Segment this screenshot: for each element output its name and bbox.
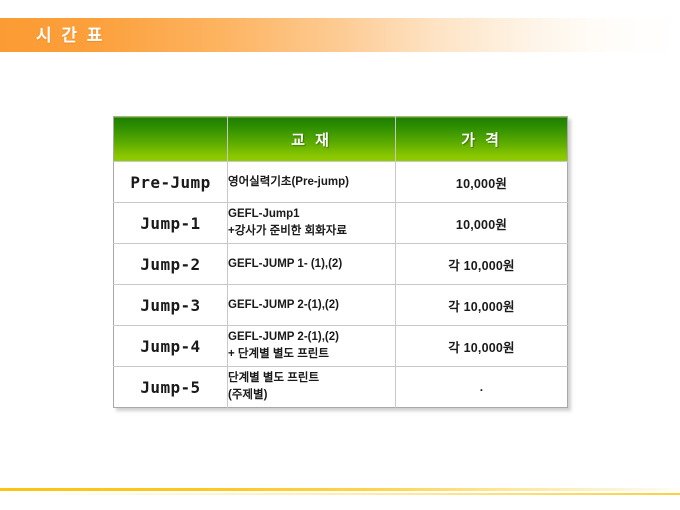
cell-level: Jump-5 [114, 367, 228, 408]
cell-book: 단계별 별도 프린트 (주제별) [228, 367, 396, 408]
schedule-table: 교 재 가 격 Pre-Jump 영어실력기초(Pre-jump) 10,000… [113, 116, 568, 408]
cell-book: GEFL-JUMP 1- (1),(2) [228, 244, 396, 285]
page-title: 시 간 표 [36, 27, 105, 44]
table-row: Jump-2 GEFL-JUMP 1- (1),(2) 각 10,000원 [114, 244, 568, 285]
book-line-1: GEFL-Jump1 [228, 206, 395, 223]
table-row: Pre-Jump 영어실력기초(Pre-jump) 10,000원 [114, 162, 568, 203]
cell-price: 각 10,000원 [396, 326, 568, 367]
cell-level: Jump-2 [114, 244, 228, 285]
table-row: Jump-4 GEFL-JUMP 2-(1),(2) + 단계별 별도 프린트 … [114, 326, 568, 367]
book-line-1: 영어실력기초(Pre-jump) [228, 174, 395, 191]
cell-level: Pre-Jump [114, 162, 228, 203]
bottom-accent-rule [0, 488, 680, 491]
column-header-level [114, 117, 228, 162]
book-line-2: (주제별) [228, 387, 395, 404]
cell-level: Jump-4 [114, 326, 228, 367]
slide-title-container: 시 간 표 [0, 18, 680, 52]
cell-price: . [396, 367, 568, 408]
cell-price: 10,000원 [396, 162, 568, 203]
book-line-2: + 단계별 별도 프린트 [228, 346, 395, 363]
cell-book: 영어실력기초(Pre-jump) [228, 162, 396, 203]
cell-price: 각 10,000원 [396, 285, 568, 326]
cell-price: 10,000원 [396, 203, 568, 244]
cell-book: GEFL-JUMP 2-(1),(2) [228, 285, 396, 326]
cell-book: GEFL-JUMP 2-(1),(2) + 단계별 별도 프린트 [228, 326, 396, 367]
cell-level: Jump-3 [114, 285, 228, 326]
book-line-1: GEFL-JUMP 2-(1),(2) [228, 297, 395, 314]
cell-level: Jump-1 [114, 203, 228, 244]
table-row: Jump-3 GEFL-JUMP 2-(1),(2) 각 10,000원 [114, 285, 568, 326]
schedule-table-container: 교 재 가 격 Pre-Jump 영어실력기초(Pre-jump) 10,000… [113, 116, 567, 408]
cell-price: 각 10,000원 [396, 244, 568, 285]
book-line-1: GEFL-JUMP 2-(1),(2) [228, 329, 395, 346]
cell-book: GEFL-Jump1 +강사가 준비한 회화자료 [228, 203, 396, 244]
bottom-accent-rule-secondary [0, 493, 680, 495]
table-row: Jump-5 단계별 별도 프린트 (주제별) . [114, 367, 568, 408]
column-header-price: 가 격 [396, 117, 568, 162]
column-header-book: 교 재 [228, 117, 396, 162]
book-line-1: GEFL-JUMP 1- (1),(2) [228, 256, 395, 273]
table-row: Jump-1 GEFL-Jump1 +강사가 준비한 회화자료 10,000원 [114, 203, 568, 244]
book-line-1: 단계별 별도 프린트 [228, 370, 395, 387]
book-line-2: +강사가 준비한 회화자료 [228, 223, 395, 240]
table-header-row: 교 재 가 격 [114, 117, 568, 162]
